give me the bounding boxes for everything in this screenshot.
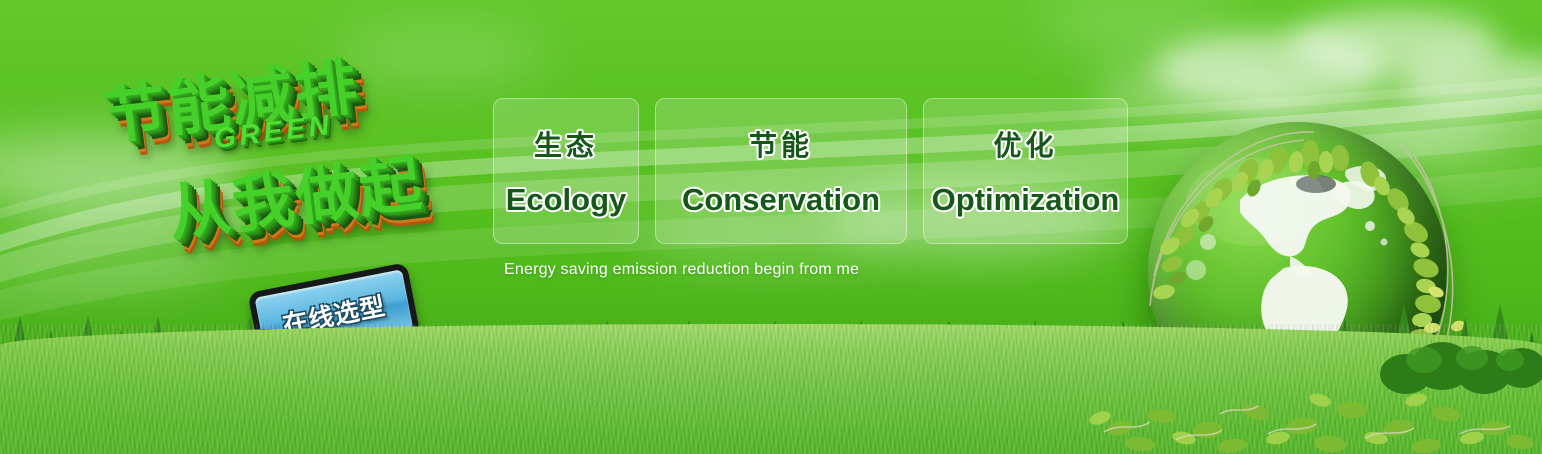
headline-art: 节能减排 GREEN 从我做起 — [91, 14, 488, 288]
feature-card-en-label: Conservation — [682, 182, 880, 218]
feature-card-cn-label: 优化 — [993, 124, 1057, 164]
feature-card-en-label: Optimization — [932, 182, 1120, 218]
feature-card-en-label: Ecology — [506, 182, 627, 218]
feature-cards: 生态 Ecology 节能 Conservation 优化 Optimizati… — [493, 98, 1128, 244]
eco-banner: 节能减排 GREEN 从我做起 在线选型 生态 Ecology 节能 Conse… — [0, 0, 1542, 454]
cloud-icon — [1040, 0, 1240, 50]
feature-card-cn-label: 节能 — [749, 124, 813, 164]
tagline-text: Energy saving emission reduction begin f… — [504, 261, 859, 279]
feature-card-optimization[interactable]: 优化 Optimization — [923, 98, 1128, 244]
cloud-icon — [1290, 10, 1500, 76]
headline-line2: 从我做起 — [163, 132, 428, 253]
feature-card-conservation[interactable]: 节能 Conservation — [655, 98, 907, 244]
bush-icon — [1380, 324, 1542, 396]
feature-card-cn-label: 生态 — [534, 124, 598, 164]
feature-card-ecology[interactable]: 生态 Ecology — [493, 98, 639, 244]
cloud-icon — [1155, 32, 1385, 106]
